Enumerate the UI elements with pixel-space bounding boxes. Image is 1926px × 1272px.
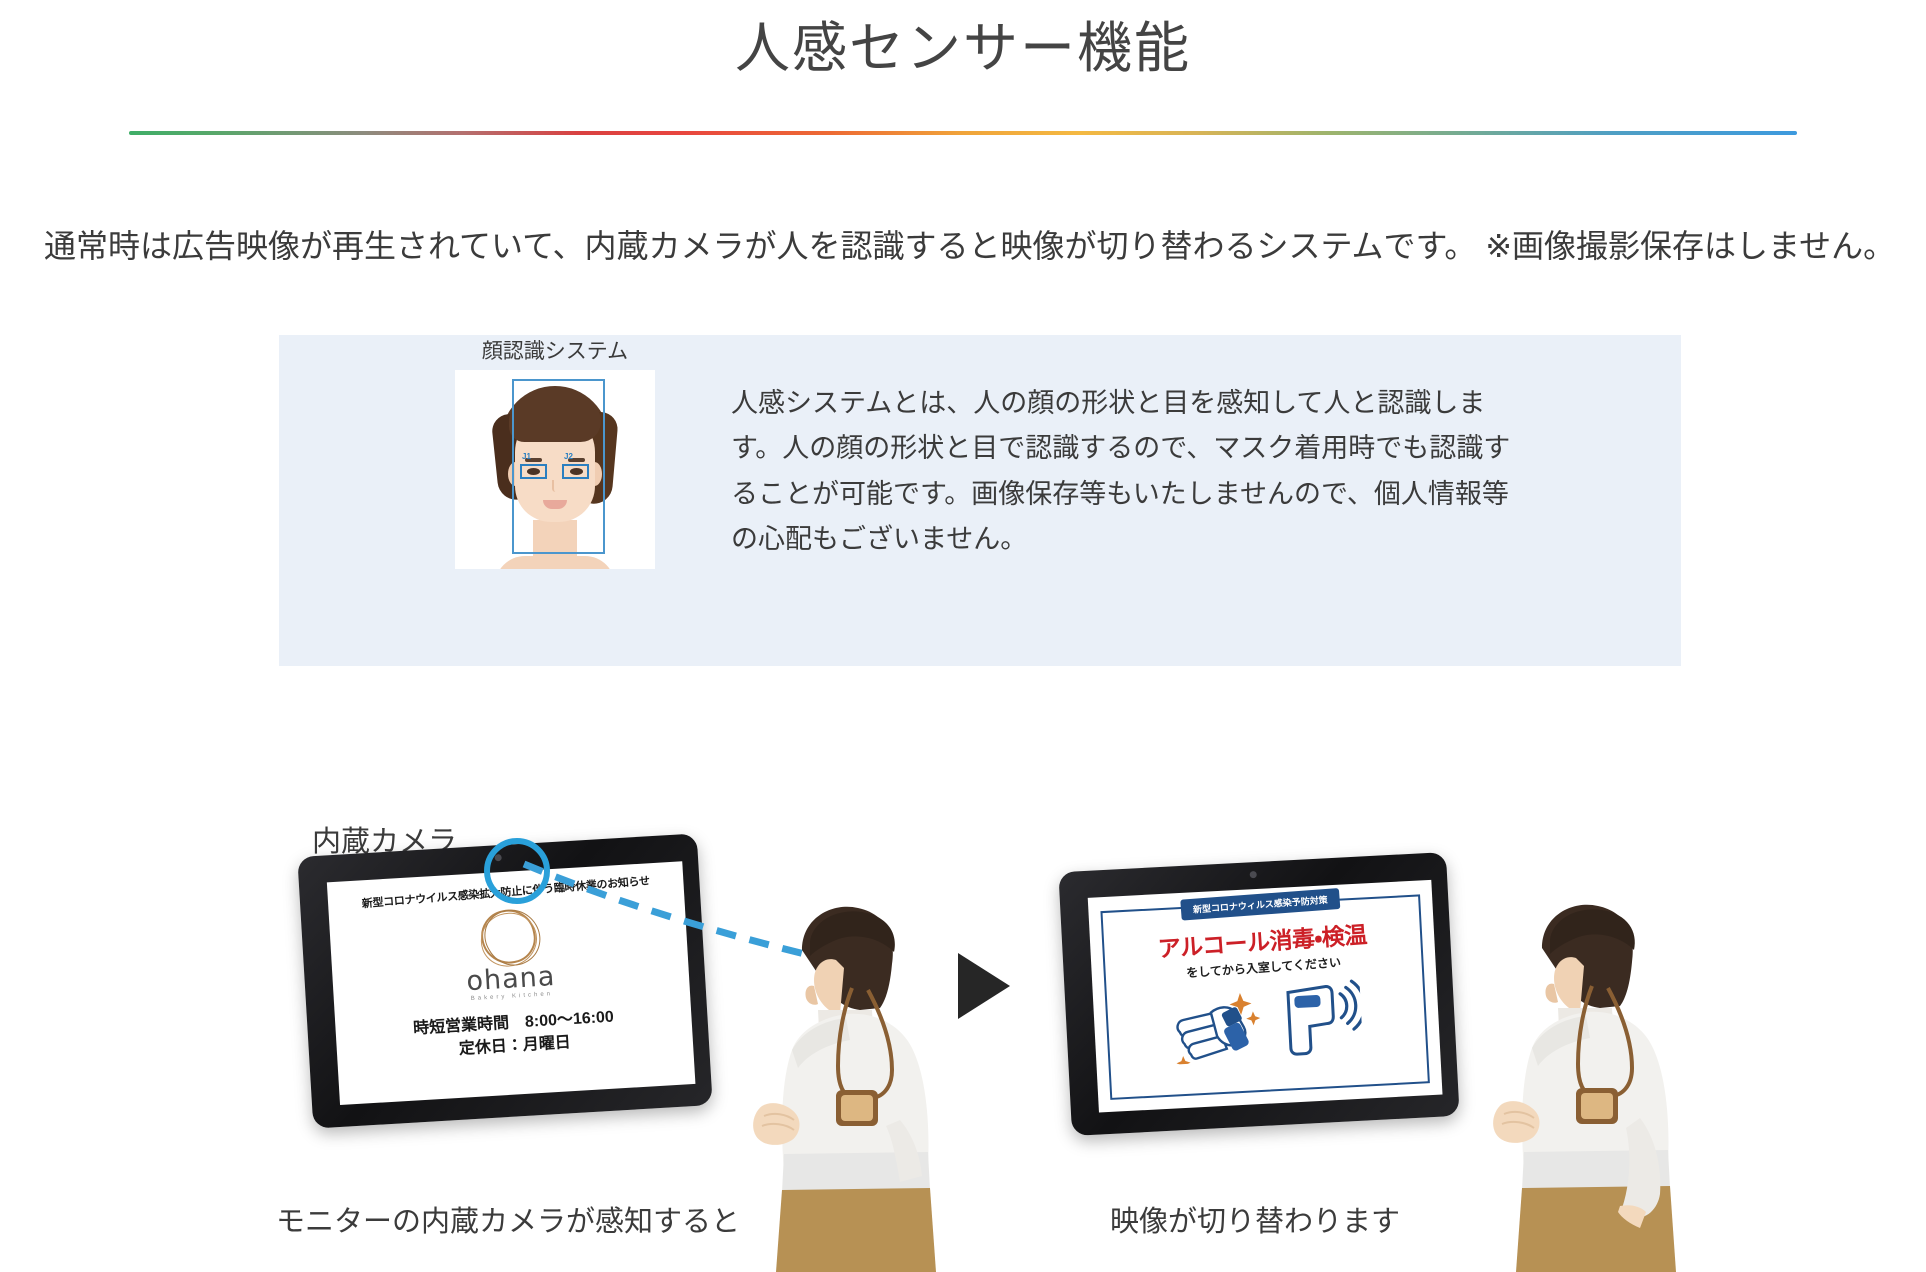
covid-notice-frame: 新型コロナウィルス感染予防対策 アルコール消毒・検温 をしてから入室してください (1100, 894, 1429, 1099)
page-title: 人感センサー機能 (0, 18, 1926, 79)
face-recognition-caption: 顔認識システム (455, 335, 655, 365)
eye-detection-label-left: J1 (522, 452, 531, 461)
covid-icon-row (1107, 975, 1427, 1067)
eye-detection-box-right (562, 464, 589, 479)
shoulders-shape (495, 556, 615, 569)
info-panel: 顔認識システム J1 J2 人感システムとは、人の顔の形状と目を感知して人と認識… (279, 335, 1681, 666)
gradient-divider (129, 131, 1797, 135)
caption-left: モニターの内蔵カメラが感知すると (276, 1198, 740, 1240)
info-panel-body-text: 人感システムとは、人の顔の形状と目を感知して人と認識します。人の顔の形状と目で認… (731, 381, 1521, 562)
eye-detection-label-right: J2 (564, 452, 573, 461)
tablet-device-right[interactable]: 新型コロナウィルス感染予防対策 アルコール消毒・検温 をしてから入室してください (1058, 852, 1459, 1136)
covid-badge: 新型コロナウィルス感染予防対策 (1180, 888, 1340, 921)
tablet-screen-right: 新型コロナウィルス感染予防対策 アルコール消毒・検温 をしてから入室してください (1088, 880, 1443, 1113)
eye-detection-box-left (520, 464, 547, 479)
face-photo: J1 J2 (455, 370, 655, 569)
person-illustration-left (740, 890, 970, 1272)
hand-sanitizer-icon (1170, 984, 1266, 1065)
lead-paragraph: 通常時は広告映像が再生されていて、内蔵カメラが人を認識すると映像が切り替わるシス… (44, 222, 1894, 270)
flow-arrow-icon (958, 953, 1010, 1019)
face-recognition-block: 顔認識システム J1 J2 (455, 335, 655, 569)
ohana-logo-mark (477, 905, 541, 969)
caption-right: 映像が切り替わります (1110, 1198, 1400, 1240)
camera-highlight-circle (484, 838, 550, 904)
person-illustration-right (1480, 888, 1710, 1272)
thermometer-gun-icon (1279, 979, 1363, 1059)
tablet-camera-lens-right (1250, 871, 1257, 878)
